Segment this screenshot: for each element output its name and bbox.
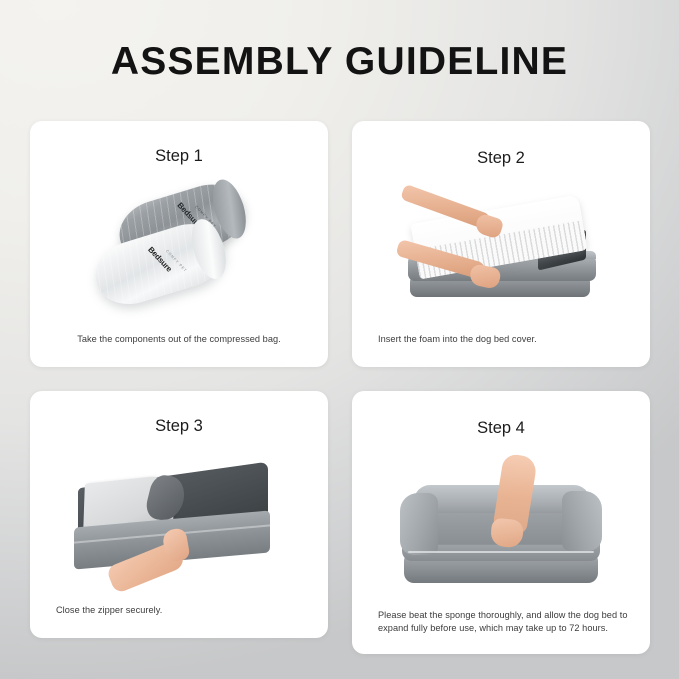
left-bolster xyxy=(400,493,438,555)
step-2-caption: Insert the foam into the dog bed cover. xyxy=(378,333,632,346)
step-card-2: Step 2 Insert the foam into the dog bed … xyxy=(352,121,650,367)
step-card-1: Step 1 Bedsure COMFY PET Bedsure COMFY P… xyxy=(30,121,328,367)
step-3-illustration xyxy=(30,457,328,607)
step-1-heading: Step 1 xyxy=(30,147,328,166)
step-4-heading: Step 4 xyxy=(352,419,650,438)
right-bolster xyxy=(562,491,602,551)
step-3-caption: Close the zipper securely. xyxy=(56,604,310,617)
step-4-illustration xyxy=(352,453,650,605)
step-card-4: Step 4 Please beat the sponge thoroughly… xyxy=(352,391,650,654)
step-2-heading: Step 2 xyxy=(352,149,650,168)
step-4-caption: Please beat the sponge thoroughly, and a… xyxy=(378,609,630,635)
step-1-illustration: Bedsure COMFY PET Bedsure COMFY PET xyxy=(30,183,328,323)
step-1-caption: Take the components out of the compresse… xyxy=(30,333,328,346)
page-title: ASSEMBLY GUIDELINE xyxy=(0,40,679,84)
assembly-guideline-page: ASSEMBLY GUIDELINE Step 1 Bedsure COMFY … xyxy=(0,0,679,679)
piping-trim xyxy=(408,551,594,553)
step-card-3: Step 3 Close the zipper securely. xyxy=(30,391,328,638)
step-2-illustration xyxy=(352,183,650,325)
step-3-heading: Step 3 xyxy=(30,417,328,436)
